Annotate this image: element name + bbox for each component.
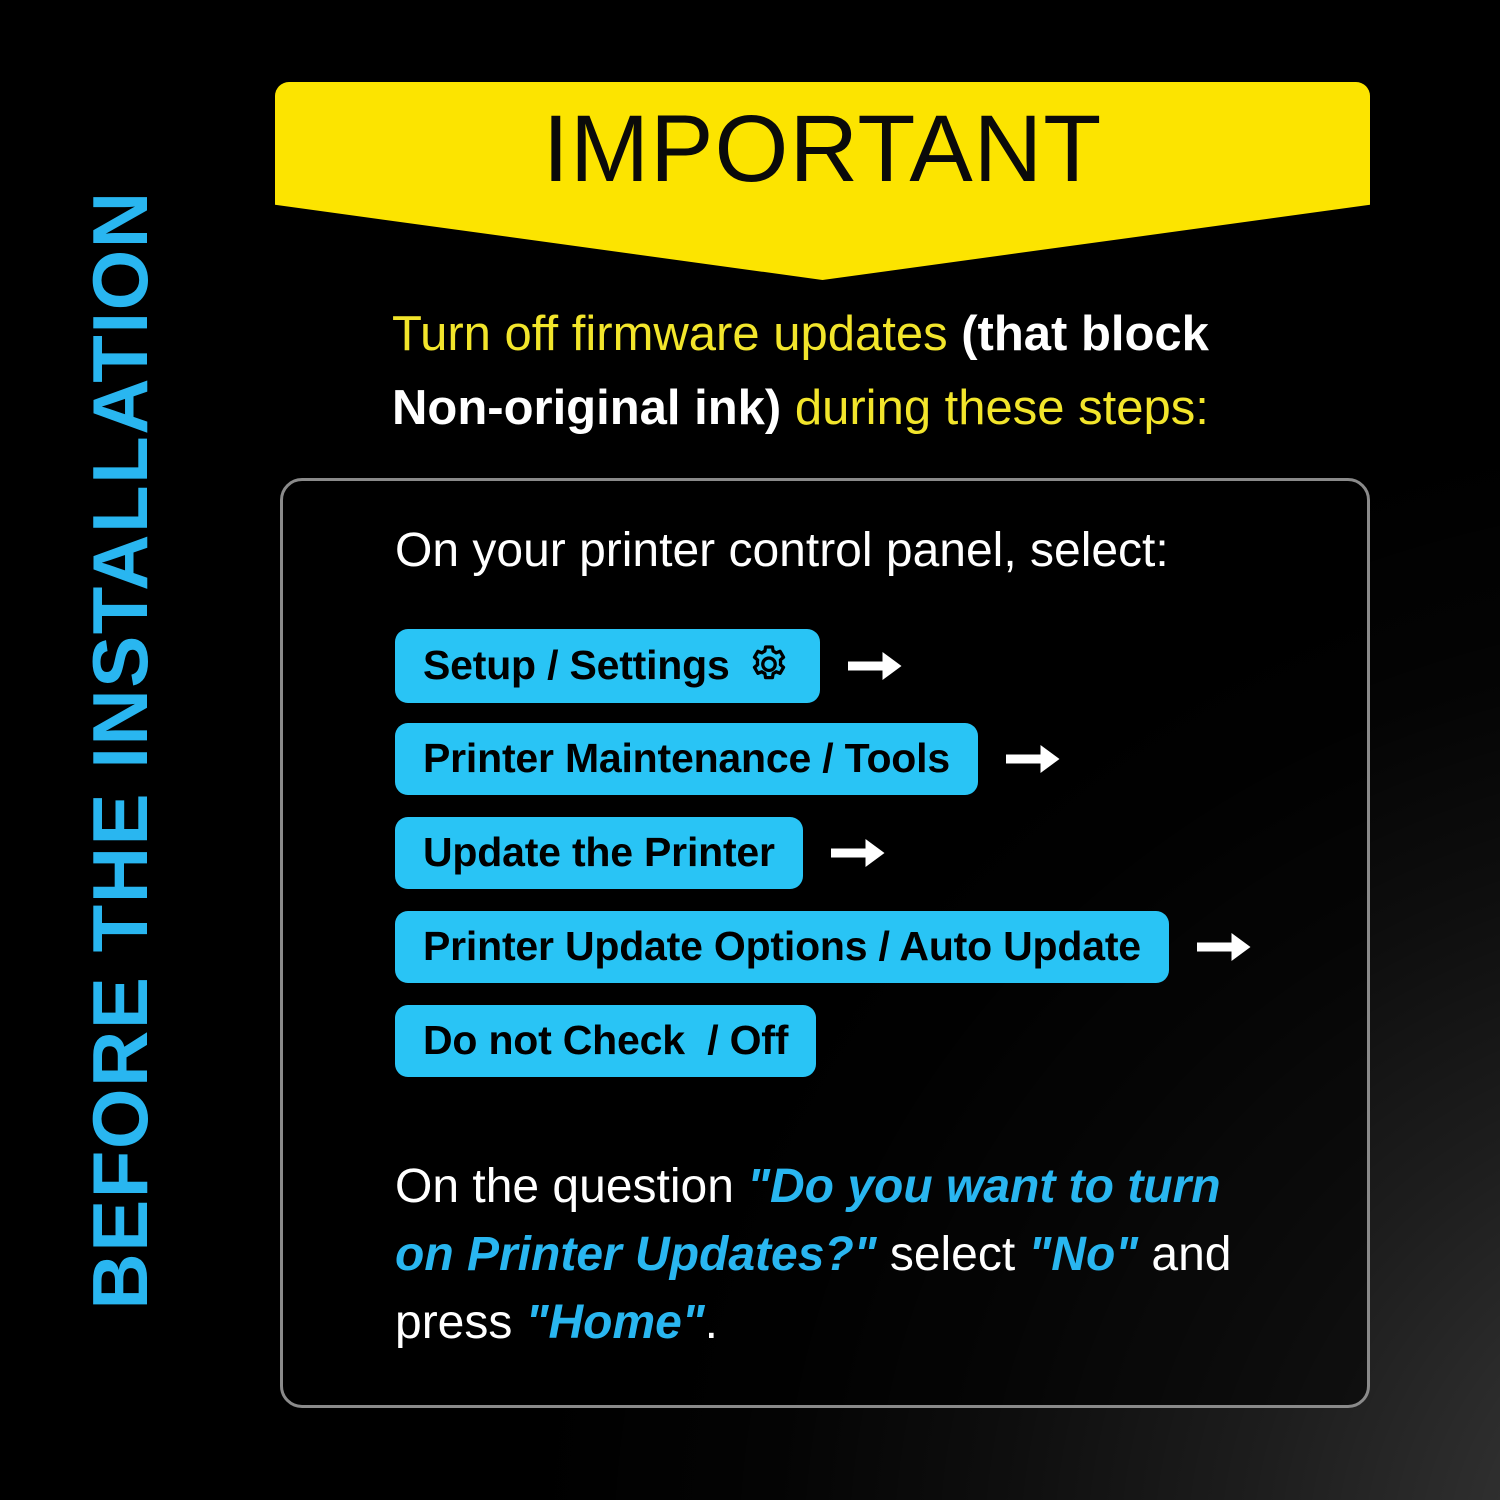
panel-intro-text: On your printer control panel, select: xyxy=(395,523,1169,578)
gear-icon xyxy=(746,642,792,688)
closing-paragraph: On the question "Do you want to turn on … xyxy=(395,1153,1285,1357)
step-label: Printer Update Options / Auto Update xyxy=(423,924,1141,968)
lead-part1: Turn off firmware updates xyxy=(392,307,961,361)
step-chip-update-the-printer[interactable]: Update the Printer xyxy=(395,817,803,889)
arrow-right-icon xyxy=(1004,739,1062,779)
arrow-right-icon xyxy=(1195,927,1253,967)
step-label: Do not Check / Off xyxy=(423,1018,788,1062)
lead-paragraph: Turn off firmware updates (that block No… xyxy=(392,298,1222,445)
step-chip-do-not-check-off[interactable]: Do not Check / Off xyxy=(395,1005,816,1077)
step-row[interactable]: Do not Check / Off xyxy=(395,1005,816,1077)
arrow-right-icon xyxy=(846,646,904,686)
lead-part2: during these steps: xyxy=(781,381,1209,435)
closing-seg4: . xyxy=(705,1296,718,1349)
poster-canvas: BEFORE THE INSTALLATION IMPORTANT Turn o… xyxy=(0,0,1500,1500)
steps-panel: On your printer control panel, select: S… xyxy=(280,478,1370,1408)
step-label: Update the Printer xyxy=(423,830,775,874)
step-row[interactable]: Update the Printer xyxy=(395,817,887,889)
step-label: Printer Maintenance / Tools xyxy=(423,736,950,780)
step-row[interactable]: Printer Maintenance / Tools xyxy=(395,723,1062,795)
vertical-side-title: BEFORE THE INSTALLATION xyxy=(0,0,240,1500)
important-banner-label: IMPORTANT xyxy=(275,100,1370,200)
step-row[interactable]: Setup / Settings xyxy=(395,629,904,703)
important-banner: IMPORTANT xyxy=(275,82,1370,280)
step-chip-printer-maintenance-tools[interactable]: Printer Maintenance / Tools xyxy=(395,723,978,795)
side-title-label: BEFORE THE INSTALLATION xyxy=(81,190,159,1309)
step-row[interactable]: Printer Update Options / Auto Update xyxy=(395,911,1253,983)
step-label: Setup / Settings xyxy=(423,643,730,687)
arrow-right-icon xyxy=(829,833,887,873)
closing-seg1: On the question xyxy=(395,1160,747,1213)
step-chip-printer-update-options-auto-update[interactable]: Printer Update Options / Auto Update xyxy=(395,911,1169,983)
step-chip-setup-settings[interactable]: Setup / Settings xyxy=(395,629,820,703)
closing-seg2: select xyxy=(876,1228,1028,1281)
closing-quote-home: "Home" xyxy=(526,1296,705,1349)
closing-quote-no: "No" xyxy=(1029,1228,1139,1281)
